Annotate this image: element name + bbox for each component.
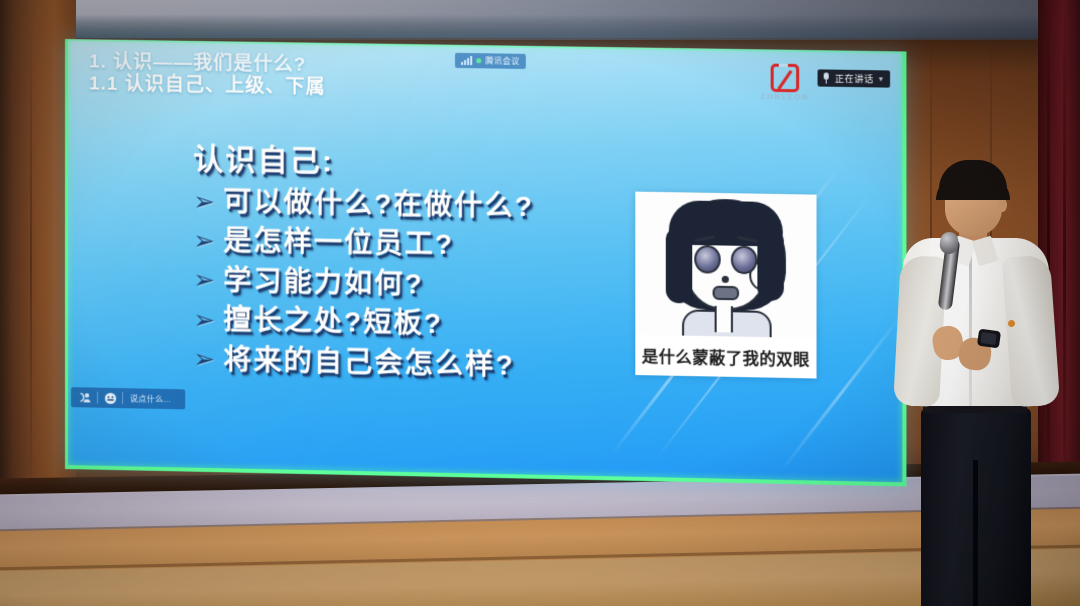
bullet-arrow-icon: ➢ bbox=[193, 267, 223, 294]
meme-caption-text: 是什么蒙蔽了我的双眼 bbox=[635, 335, 816, 379]
presenter-trouser-seam bbox=[973, 460, 978, 606]
presenter-shirt-placket bbox=[969, 256, 972, 406]
participants-icon[interactable] bbox=[73, 387, 97, 407]
speaking-status-badge[interactable]: 正在讲话 ▾ bbox=[818, 69, 891, 87]
meme-eye-left bbox=[694, 245, 720, 274]
speaking-status-label: 正在讲话 bbox=[835, 72, 874, 86]
meme-eye-right bbox=[731, 246, 757, 275]
meme-hair-side-right bbox=[757, 230, 784, 301]
list-item: ➢ 学习能力如何? bbox=[193, 265, 534, 301]
presenter-ear bbox=[998, 198, 1007, 212]
presenter-watch-face bbox=[980, 332, 996, 345]
ceiling-shadow bbox=[0, 0, 1080, 40]
list-item-label: 将来的自己会怎么样? bbox=[223, 345, 514, 380]
emoji-smiley-icon[interactable] bbox=[98, 388, 122, 408]
presenter-lapel-pin bbox=[1008, 320, 1015, 327]
meme-neck bbox=[715, 306, 733, 333]
cartoon-girl-illustration bbox=[635, 192, 816, 339]
screen-share-border-left bbox=[65, 39, 68, 469]
list-item-label: 擅长之处?短板? bbox=[223, 305, 443, 339]
projection-screen: 腾讯会议 ZONLEON 正在讲话 ▾ 1. 认识——我们是什么? 1.1 认识… bbox=[65, 39, 906, 486]
bullet-arrow-icon: ➢ bbox=[193, 227, 223, 254]
screenshot-canvas: 腾讯会议 ZONLEON 正在讲话 ▾ 1. 认识——我们是什么? 1.1 认识… bbox=[0, 0, 1080, 606]
presenter-hair-top bbox=[936, 174, 1010, 200]
slide-lead-text: 认识自己: bbox=[193, 145, 534, 181]
slide-meme-image: 是什么蒙蔽了我的双眼 bbox=[635, 192, 816, 379]
slide-bullet-list: ➢ 可以做什么?在做什么? ➢ 是怎样一位员工? ➢ 学习能力如何? ➢ 擅长之… bbox=[193, 186, 534, 380]
chat-input[interactable]: 说点什么... bbox=[123, 393, 183, 405]
bullet-arrow-icon: ➢ bbox=[193, 188, 223, 215]
list-item: ➢ 是怎样一位员工? bbox=[193, 226, 534, 262]
tencent-meeting-label: 腾讯会议 bbox=[485, 55, 519, 67]
slide-title-line-1: 1. 认识——我们是什么? bbox=[89, 51, 326, 76]
slide-heading: 1. 认识——我们是什么? 1.1 认识自己、上级、下属 bbox=[89, 51, 326, 98]
tencent-meeting-pill[interactable]: 腾讯会议 bbox=[455, 53, 526, 69]
bullet-arrow-icon: ➢ bbox=[193, 306, 223, 333]
slide-content: 认识自己: ➢ 可以做什么?在做什么? ➢ 是怎样一位员工? ➢ 学习能力如何?… bbox=[193, 145, 534, 390]
meme-mouth bbox=[713, 286, 739, 301]
meme-hair-side-left bbox=[666, 228, 692, 303]
list-item-label: 学习能力如何? bbox=[223, 266, 423, 299]
wall-seam-1 bbox=[30, 30, 32, 500]
list-item: ➢ 将来的自己会怎么样? bbox=[193, 344, 534, 380]
meme-nose bbox=[722, 276, 729, 283]
microphone-icon bbox=[823, 72, 830, 83]
list-item: ➢ 可以做什么?在做什么? bbox=[193, 186, 534, 221]
zonleon-mark-icon bbox=[771, 64, 800, 93]
brand-and-status: ZONLEON 正在讲话 ▾ bbox=[761, 63, 891, 102]
slide-title-line-2: 1.1 认识自己、上级、下属 bbox=[89, 73, 326, 98]
presenter-figure bbox=[895, 160, 1067, 606]
meeting-chat-bar[interactable]: 说点什么... bbox=[71, 387, 185, 409]
presenter-right-arm bbox=[1002, 255, 1060, 408]
chevron-down-icon[interactable]: ▾ bbox=[879, 74, 883, 83]
list-item: ➢ 擅长之处?短板? bbox=[193, 305, 534, 341]
zonleon-logo: ZONLEON bbox=[761, 63, 810, 101]
status-dot-icon bbox=[476, 58, 481, 63]
zonleon-wordmark: ZONLEON bbox=[761, 94, 810, 102]
list-item-label: 可以做什么?在做什么? bbox=[223, 187, 534, 222]
signal-bars-icon bbox=[461, 56, 472, 64]
bullet-arrow-icon: ➢ bbox=[193, 346, 223, 373]
list-item-label: 是怎样一位员工? bbox=[223, 226, 454, 260]
